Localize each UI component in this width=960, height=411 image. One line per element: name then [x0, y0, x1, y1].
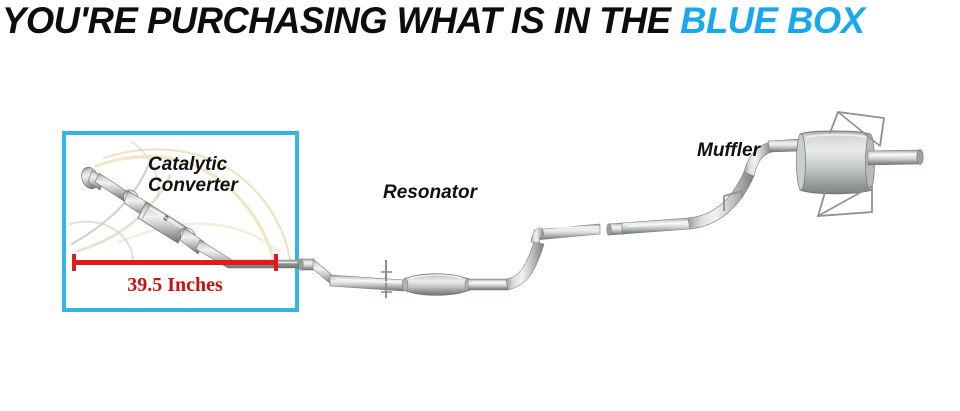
page-title: YOU'RE PURCHASING WHAT IS IN THE BLUE BO… [2, 0, 865, 43]
label-resonator: Resonator [383, 182, 477, 203]
dimension-line [72, 260, 278, 265]
label-catalytic-converter-line2: Converter [148, 175, 238, 196]
dimension-label: 39.5 Inches [72, 274, 278, 297]
diagram-stage: Catalytic Converter Resonator Muffler 39… [0, 46, 960, 411]
page-title-highlight: BLUE BOX [680, 0, 864, 41]
label-catalytic-converter-line1: Catalytic [148, 154, 238, 175]
page-title-primary: YOU'RE PURCHASING WHAT IS IN THE [2, 0, 680, 41]
label-muffler: Muffler [697, 140, 760, 161]
exhaust-system-diagram-page: YOU'RE PURCHASING WHAT IS IN THE BLUE BO… [0, 0, 960, 411]
label-catalytic-converter: Catalytic Converter [148, 154, 238, 197]
header-banner: YOU'RE PURCHASING WHAT IS IN THE BLUE BO… [0, 0, 960, 46]
dimension-cap-right [274, 254, 278, 271]
